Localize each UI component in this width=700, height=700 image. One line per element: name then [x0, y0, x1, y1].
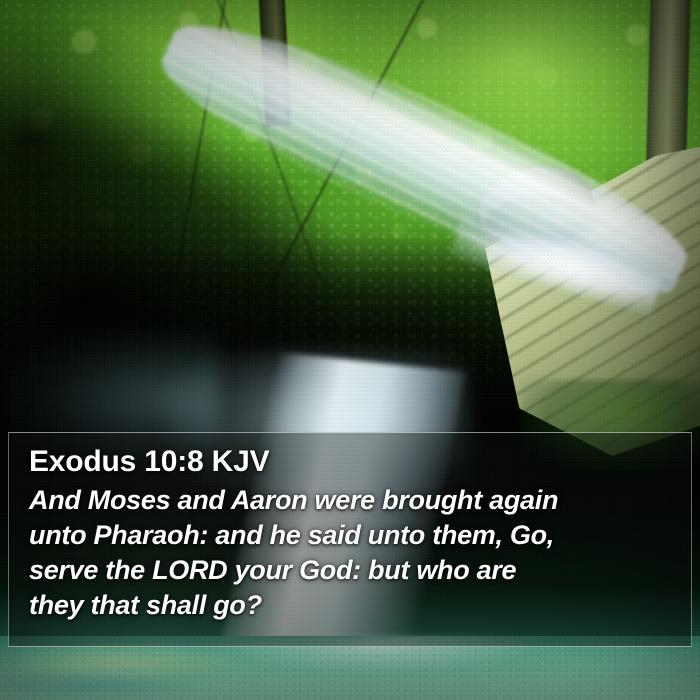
verse-line: serve the LORD your God: but who are	[29, 553, 677, 588]
verse-line: unto Pharaoh: and he said unto them, Go,	[29, 518, 677, 553]
verse-text: And Moses and Aaron were brought again u…	[29, 483, 677, 623]
verse-overlay-panel: Exodus 10:8 KJV And Moses and Aaron were…	[8, 432, 692, 647]
verse-line: And Moses and Aaron were brought again	[29, 483, 677, 518]
verse-line: they that shall go?	[29, 588, 677, 623]
verse-image-card: Exodus 10:8 KJV And Moses and Aaron were…	[0, 0, 700, 700]
verse-reference: Exodus 10:8 KJV	[29, 445, 677, 479]
